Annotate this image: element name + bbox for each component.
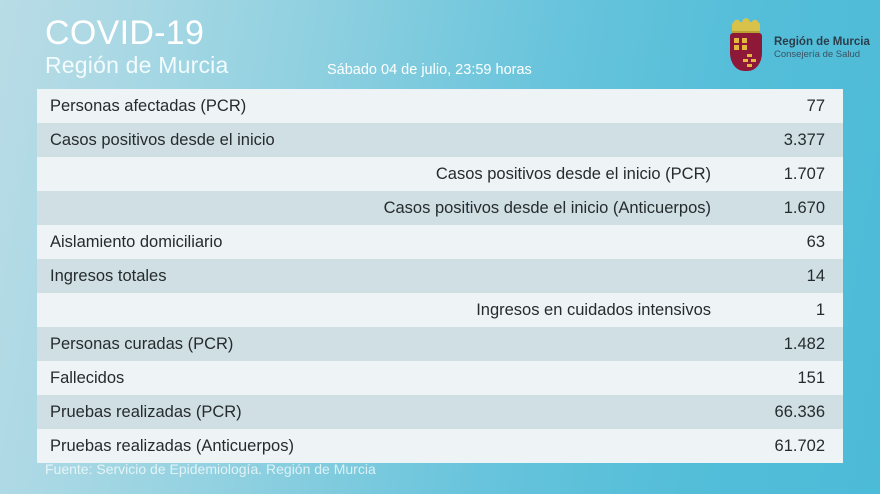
crest-icon — [726, 22, 766, 74]
shield-icon — [730, 33, 762, 71]
region-de-murcia-logo: Región de Murcia Consejería de Salud — [726, 22, 858, 74]
row-label: Fallecidos — [50, 369, 733, 388]
row-value: 77 — [733, 97, 825, 116]
row-value: 1.670 — [733, 199, 825, 218]
table-row: Personas curadas (PCR)1.482 — [37, 327, 843, 361]
title-block: COVID-19 Región de Murcia — [45, 14, 228, 79]
row-label: Pruebas realizadas (PCR) — [50, 403, 733, 422]
table-row: Casos positivos desde el inicio (Anticue… — [37, 191, 843, 225]
table-row: Casos positivos desde el inicio (PCR)1.7… — [37, 157, 843, 191]
row-value: 1 — [733, 301, 825, 320]
source-footnote: Fuente: Servicio de Epidemiología. Regió… — [45, 461, 376, 477]
row-label: Casos positivos desde el inicio (Anticue… — [50, 199, 733, 218]
row-label: Aislamiento domiciliario — [50, 233, 733, 252]
covid-stats-infographic: COVID-19 Región de Murcia Sábado 04 de j… — [0, 0, 880, 494]
row-value: 63 — [733, 233, 825, 252]
row-label: Personas curadas (PCR) — [50, 335, 733, 354]
row-label: Ingresos en cuidados intensivos — [50, 301, 733, 320]
row-label: Casos positivos desde el inicio — [50, 131, 733, 150]
castles-charge-icon — [734, 38, 747, 51]
logo-line-2: Consejería de Salud — [774, 49, 870, 61]
row-value: 1.707 — [733, 165, 825, 184]
page-subtitle: Región de Murcia — [45, 52, 228, 79]
row-value: 66.336 — [733, 403, 825, 422]
logo-text: Región de Murcia Consejería de Salud — [774, 35, 870, 61]
date-stamp: Sábado 04 de julio, 23:59 horas — [327, 62, 532, 78]
table-row: Pruebas realizadas (Anticuerpos)61.702 — [37, 429, 843, 463]
row-value: 61.702 — [733, 437, 825, 456]
row-value: 151 — [733, 369, 825, 388]
crown-icon — [732, 22, 760, 33]
table-row: Personas afectadas (PCR)77 — [37, 89, 843, 123]
row-label: Casos positivos desde el inicio (PCR) — [50, 165, 733, 184]
table-row: Casos positivos desde el inicio3.377 — [37, 123, 843, 157]
table-row: Ingresos en cuidados intensivos1 — [37, 293, 843, 327]
row-value: 3.377 — [733, 131, 825, 150]
crowns-charge-icon — [742, 54, 758, 67]
table-row: Fallecidos151 — [37, 361, 843, 395]
table-row: Aislamiento domiciliario63 — [37, 225, 843, 259]
row-label: Ingresos totales — [50, 267, 733, 286]
table-row: Pruebas realizadas (PCR)66.336 — [37, 395, 843, 429]
row-label: Personas afectadas (PCR) — [50, 97, 733, 116]
row-label: Pruebas realizadas (Anticuerpos) — [50, 437, 733, 456]
page-title: COVID-19 — [45, 14, 228, 52]
stats-table: Personas afectadas (PCR)77Casos positivo… — [37, 89, 843, 463]
row-value: 14 — [733, 267, 825, 286]
row-value: 1.482 — [733, 335, 825, 354]
header: COVID-19 Región de Murcia Sábado 04 de j… — [0, 0, 880, 89]
table-row: Ingresos totales14 — [37, 259, 843, 293]
logo-line-1: Región de Murcia — [774, 35, 870, 49]
